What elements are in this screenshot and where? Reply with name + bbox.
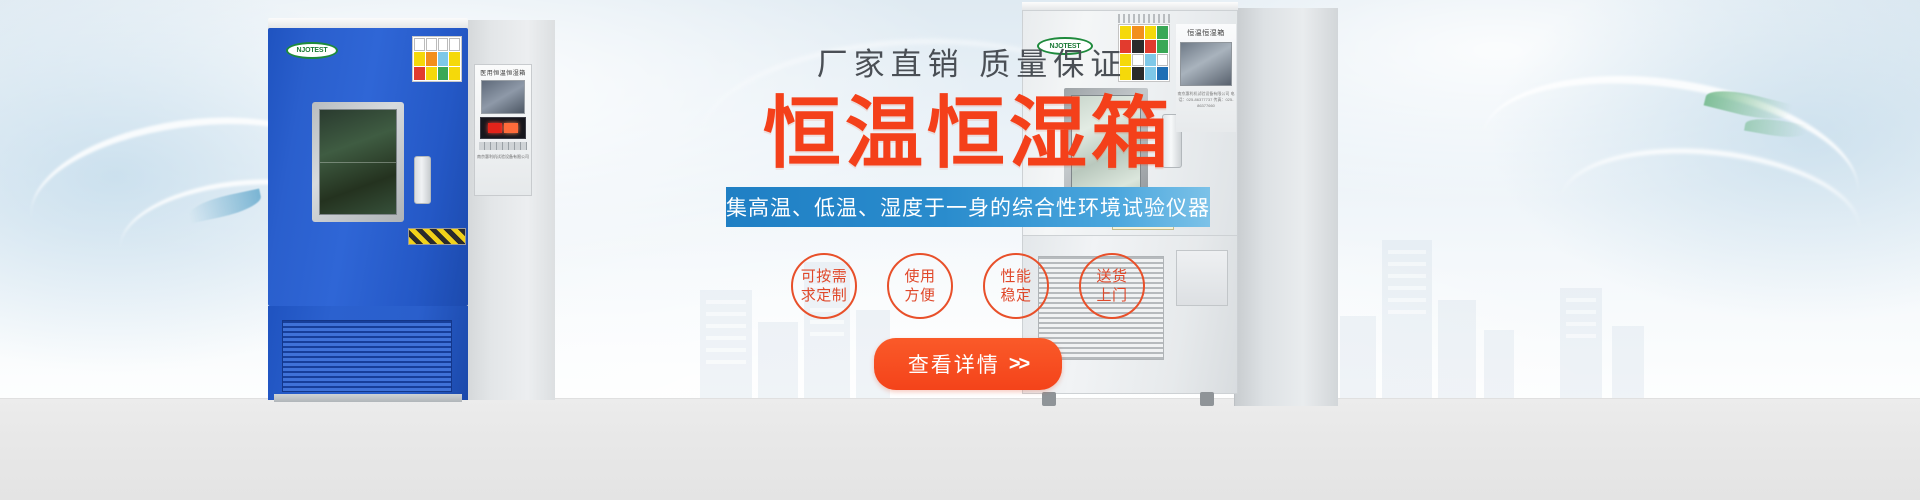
feature-badge-line2: 稳定: [1000, 286, 1031, 305]
feature-badge-line1: 性能: [1000, 267, 1031, 286]
left-chamber-door-handle: [414, 156, 431, 204]
left-chamber-brand-logo: NJOTEST: [286, 42, 338, 59]
feature-badge-line1: 送货: [1096, 267, 1127, 286]
right-chamber-top-louvers: [1118, 14, 1170, 23]
product-image-left-chamber: NJOTEST 医用恒温恒湿箱 南京惠利机试验设备有限公司: [268, 28, 550, 400]
left-chamber-viewport: [312, 102, 404, 222]
right-chamber-foot: [1042, 392, 1056, 406]
left-chamber-hazard-stripe: [408, 228, 466, 245]
left-chamber-panel-note: 南京惠利机试验设备有限公司: [475, 154, 531, 160]
left-chamber-base-plinth: [274, 394, 462, 402]
right-chamber-panel-title: 恒温恒湿箱: [1176, 24, 1236, 38]
feature-badge-line2: 求定制: [801, 286, 848, 305]
banner-headline: 恒温恒湿箱: [668, 91, 1268, 175]
left-chamber-display-screen: [481, 80, 525, 114]
feature-badge-easy-use[interactable]: 使用 方便: [887, 253, 953, 319]
left-chamber-control-panel: 医用恒温恒湿箱 南京惠利机试验设备有限公司: [474, 64, 532, 196]
view-details-button[interactable]: 查看详情 >>: [874, 338, 1062, 390]
banner-tagline: 厂家直销 质量保证: [676, 46, 1268, 83]
banner-subtitle-text: 集高温、低温、湿度于一身的综合性环境试验仪器: [726, 192, 1210, 222]
feature-badge-line1: 使用: [904, 267, 935, 286]
chevron-right-double-icon: >>: [1009, 353, 1028, 376]
feature-badge-line2: 方便: [904, 286, 935, 305]
feature-badge-line1: 可按需: [801, 267, 848, 286]
left-chamber-glass: [319, 109, 397, 215]
left-chamber-brand-text: NJOTEST: [297, 47, 328, 54]
banner-subtitle-bar: 集高温、低温、湿度于一身的综合性环境试验仪器: [726, 187, 1210, 227]
feature-badge-stable[interactable]: 性能 稳定: [983, 253, 1049, 319]
left-chamber-button-row: [479, 142, 527, 150]
cta-container: 查看详情 >>: [668, 338, 1268, 390]
product-banner: NJOTEST 医用恒温恒湿箱 南京惠利机试验设备有限公司: [0, 0, 1920, 500]
right-chamber-foot: [1200, 392, 1214, 406]
view-details-label: 查看详情: [908, 349, 1000, 379]
feature-badge-delivery[interactable]: 送货 上门: [1079, 253, 1145, 319]
feature-badge-custom[interactable]: 可按需 求定制: [791, 253, 857, 319]
feature-badge-list: 可按需 求定制 使用 方便 性能 稳定 送货 上门: [668, 253, 1268, 319]
left-chamber-warning-label: [412, 36, 462, 82]
feature-badge-line2: 上门: [1096, 286, 1127, 305]
ground-band: [0, 398, 1920, 500]
left-chamber-panel-title: 医用恒温恒湿箱: [475, 65, 531, 77]
left-chamber-vent-grille: [282, 320, 452, 392]
left-chamber-led-readout: [480, 117, 526, 139]
banner-copy-block: 厂家直销 质量保证 恒温恒湿箱 集高温、低温、湿度于一身的综合性环境试验仪器 可…: [668, 46, 1268, 319]
